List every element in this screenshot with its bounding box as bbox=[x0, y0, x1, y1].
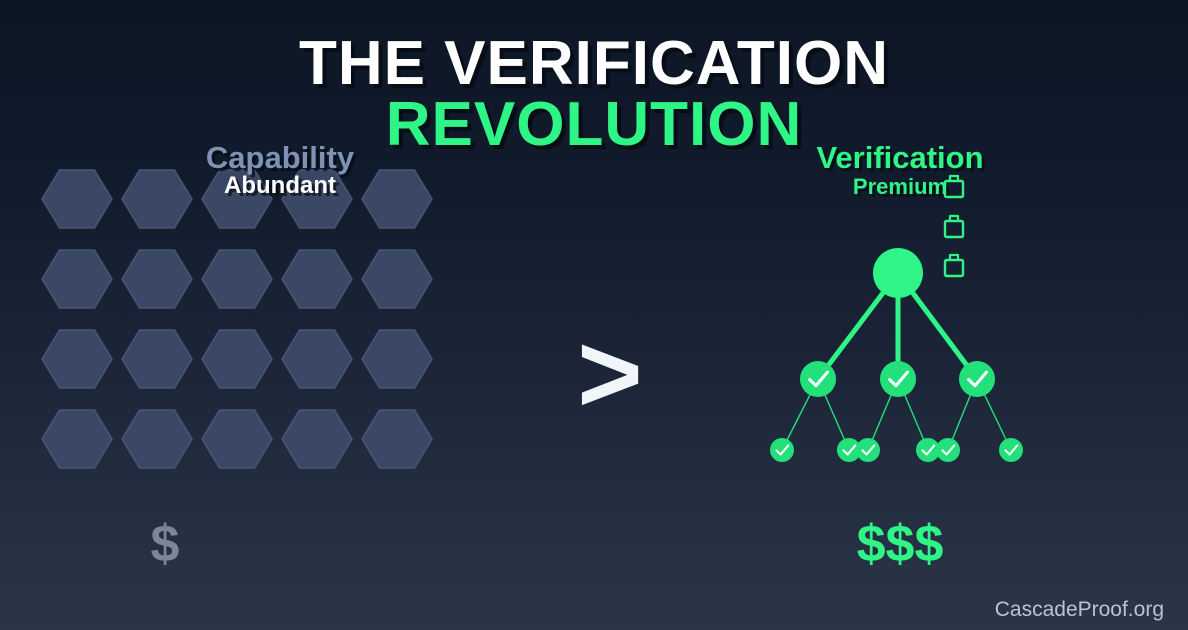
tree-node-circle bbox=[959, 361, 995, 397]
footer-brand: CascadeProof.org bbox=[995, 598, 1164, 622]
tree-leaf-node bbox=[999, 438, 1023, 462]
tree-root-node bbox=[873, 248, 923, 298]
tree-node-circle bbox=[873, 248, 923, 298]
tree-leaf-node bbox=[856, 438, 880, 462]
tree-node-circle bbox=[800, 361, 836, 397]
tree-leaf-node bbox=[936, 438, 960, 462]
tree-node-circle bbox=[936, 438, 960, 462]
tree-mid-node bbox=[880, 361, 916, 397]
tree-leaf-node bbox=[770, 438, 794, 462]
tree-mid-node bbox=[800, 361, 836, 397]
tree-node-circle bbox=[856, 438, 880, 462]
tree-mid-node bbox=[959, 361, 995, 397]
verification-cost: $$$ bbox=[820, 514, 980, 574]
slide-canvas: THE VERIFICATION REVOLUTION Capability A… bbox=[0, 0, 1188, 630]
capability-cost: $ bbox=[100, 514, 230, 574]
tree-node-circle bbox=[770, 438, 794, 462]
tree-node-circle bbox=[999, 438, 1023, 462]
tree-node-circle bbox=[880, 361, 916, 397]
